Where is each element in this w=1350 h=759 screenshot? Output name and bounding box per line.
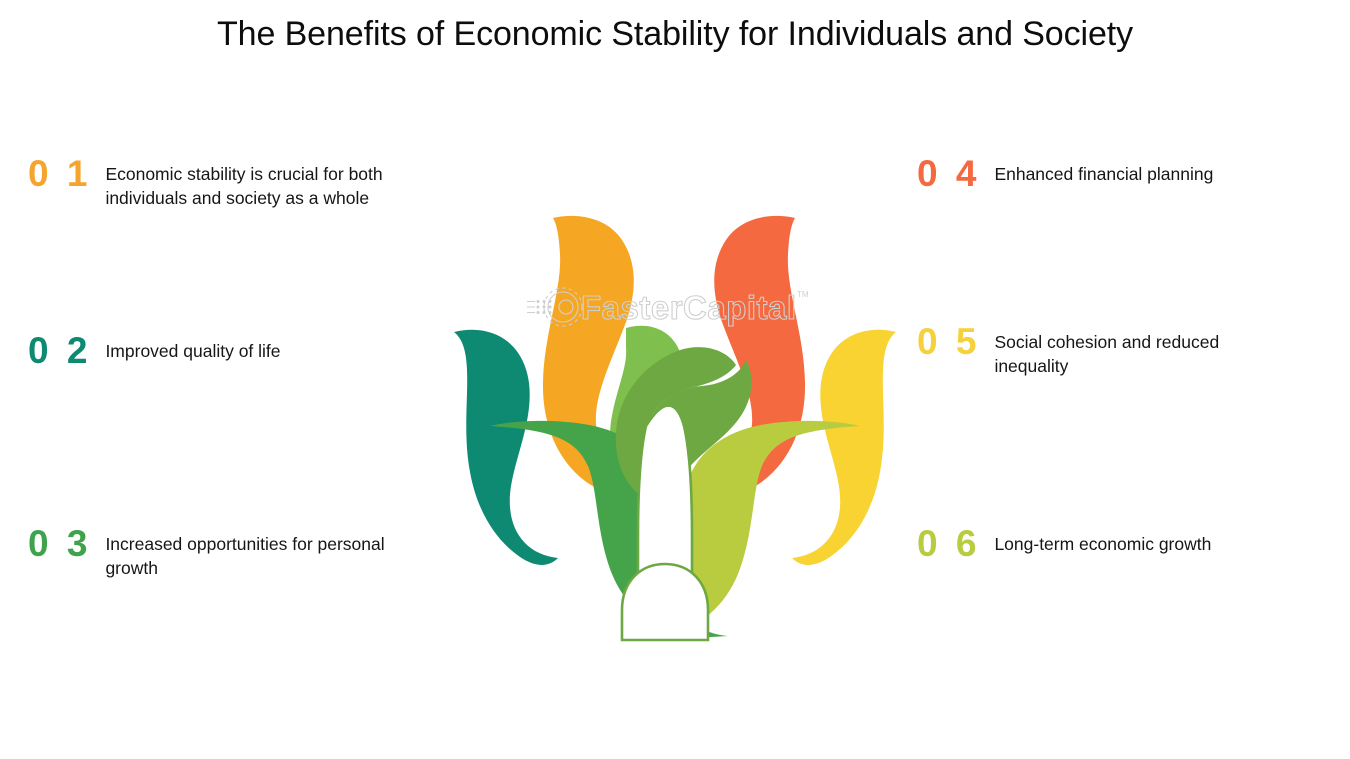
item-number-01: 0 1 <box>28 155 91 193</box>
item-text-04: Enhanced financial planning <box>980 163 1294 187</box>
list-item-01: 0 1 Economic stability is crucial for bo… <box>28 163 428 210</box>
list-item-06: 0 6 Long-term economic growth <box>917 533 1337 563</box>
flower-plant-illustration <box>440 198 910 650</box>
item-text-01: Economic stability is crucial for both i… <box>91 163 415 210</box>
infographic-slide: The Benefits of Economic Stability for I… <box>0 0 1350 759</box>
teal-leaf-left-shape <box>454 330 558 565</box>
item-text-06: Long-term economic growth <box>980 533 1294 557</box>
item-number-05: 0 5 <box>917 323 980 361</box>
list-item-05: 0 5 Social cohesion and reduced inequali… <box>917 331 1337 378</box>
yellow-leaf-right-shape <box>792 330 896 565</box>
dome-base-shape <box>622 564 708 640</box>
item-text-03: Increased opportunities for personal gro… <box>91 533 415 580</box>
list-item-03: 0 3 Increased opportunities for personal… <box>28 533 428 580</box>
item-text-02: Improved quality of life <box>91 340 415 364</box>
item-number-04: 0 4 <box>917 155 980 193</box>
item-number-02: 0 2 <box>28 332 91 370</box>
item-number-03: 0 3 <box>28 525 91 563</box>
item-number-06: 0 6 <box>917 525 980 563</box>
list-item-02: 0 2 Improved quality of life <box>28 340 428 370</box>
item-text-05: Social cohesion and reduced inequality <box>980 331 1294 378</box>
page-title: The Benefits of Economic Stability for I… <box>0 12 1350 56</box>
list-item-04: 0 4 Enhanced financial planning <box>917 163 1337 193</box>
